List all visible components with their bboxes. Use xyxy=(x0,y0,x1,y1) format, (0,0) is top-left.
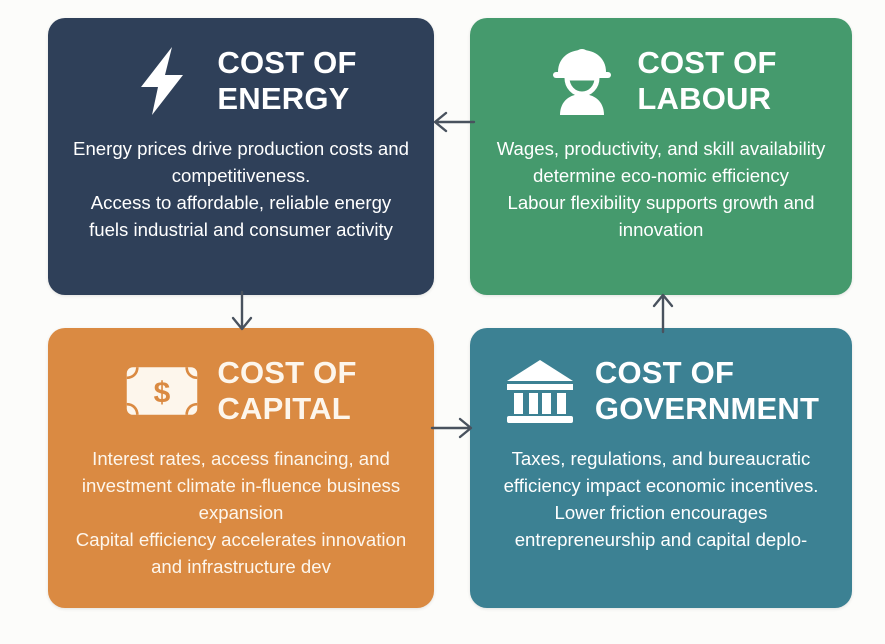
card-header-labour: COST OF LABOUR xyxy=(470,18,852,124)
card-body-government: Taxes, regulations, and bureaucratic eff… xyxy=(470,434,852,574)
card-body-labour: Wages, productivity, and skill availabil… xyxy=(470,124,852,264)
arrow-government-to-labour xyxy=(645,292,681,332)
card-cost-of-capital[interactable]: $ COST OF CAPITAL Interest rates, access… xyxy=(48,328,434,608)
card-header-government: COST OF GOVERNMENT xyxy=(470,328,852,434)
card-header-capital: $ COST OF CAPITAL xyxy=(48,328,434,434)
card-title-labour: COST OF LABOUR xyxy=(637,45,776,116)
card-body-energy: Energy prices drive production costs and… xyxy=(48,124,434,264)
svg-text:$: $ xyxy=(154,376,171,409)
card-title-government: COST OF GOVERNMENT xyxy=(595,355,819,426)
diagram-board: COST OF ENERGY Energy prices drive produ… xyxy=(0,0,885,644)
bank-building-icon xyxy=(503,354,577,428)
card-cost-of-government[interactable]: COST OF GOVERNMENT Taxes, regulations, a… xyxy=(470,328,852,608)
card-title-energy: COST OF ENERGY xyxy=(217,45,356,116)
arrow-energy-to-capital xyxy=(224,292,260,332)
card-body-capital: Interest rates, access financing, and in… xyxy=(48,434,434,601)
lightning-bolt-icon xyxy=(125,44,199,118)
banknote-dollar-icon: $ xyxy=(125,354,199,428)
card-cost-of-labour[interactable]: COST OF LABOUR Wages, productivity, and … xyxy=(470,18,852,295)
card-cost-of-energy[interactable]: COST OF ENERGY Energy prices drive produ… xyxy=(48,18,434,295)
hard-hat-worker-icon xyxy=(545,44,619,118)
card-title-capital: COST OF CAPITAL xyxy=(217,355,356,426)
card-header-energy: COST OF ENERGY xyxy=(48,18,434,124)
